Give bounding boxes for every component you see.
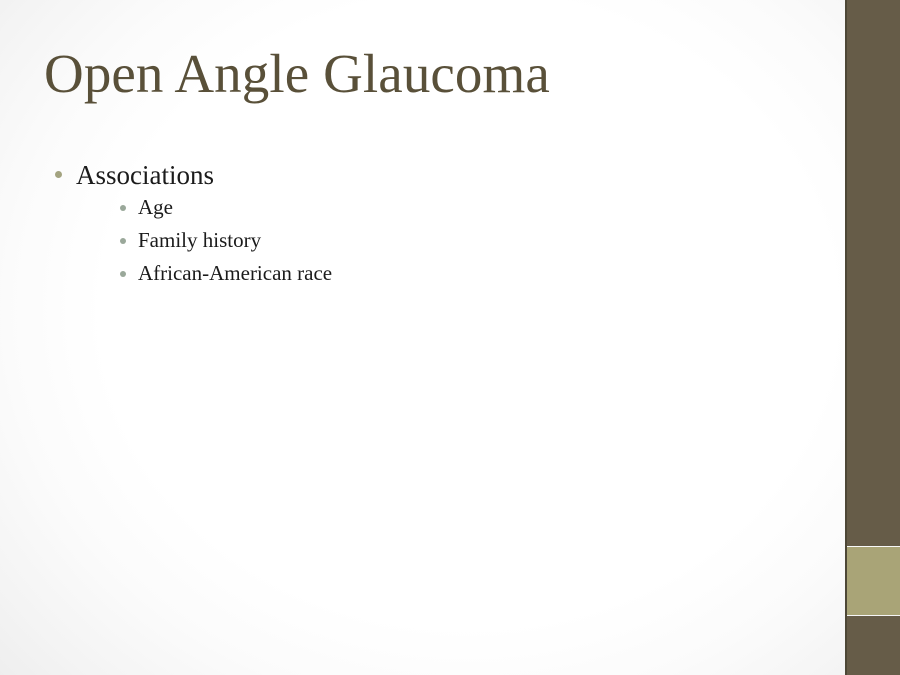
sidebar-band-upper [847, 0, 900, 546]
presentation-slide: Open Angle Glaucoma Associations Age Fam… [0, 0, 900, 675]
bullet-dot-icon [120, 238, 126, 244]
list-item[interactable]: Age [76, 192, 814, 222]
bullet-label: Associations [76, 160, 214, 190]
slide-title-placeholder[interactable]: Open Angle Glaucoma [44, 44, 814, 103]
page-title: Open Angle Glaucoma [44, 44, 814, 103]
list-item[interactable]: Associations Age Family history African-… [44, 158, 814, 288]
slide-decorative-sidebar [847, 0, 900, 675]
bullet-list: Associations Age Family history African-… [44, 158, 814, 288]
list-item[interactable]: African-American race [76, 258, 814, 288]
bullet-dot-icon [120, 271, 126, 277]
sidebar-band-lower [847, 616, 900, 675]
list-item[interactable]: Family history [76, 225, 814, 255]
bullet-label: Family history [138, 228, 261, 252]
bullet-label: African-American race [138, 261, 332, 285]
slide-body-placeholder[interactable]: Associations Age Family history African-… [44, 158, 814, 293]
sidebar-band-accent [847, 547, 900, 615]
sub-bullet-list: Age Family history African-American race [76, 192, 814, 288]
bullet-dot-icon [55, 171, 62, 178]
bullet-label: Age [138, 195, 173, 219]
bullet-dot-icon [120, 205, 126, 211]
